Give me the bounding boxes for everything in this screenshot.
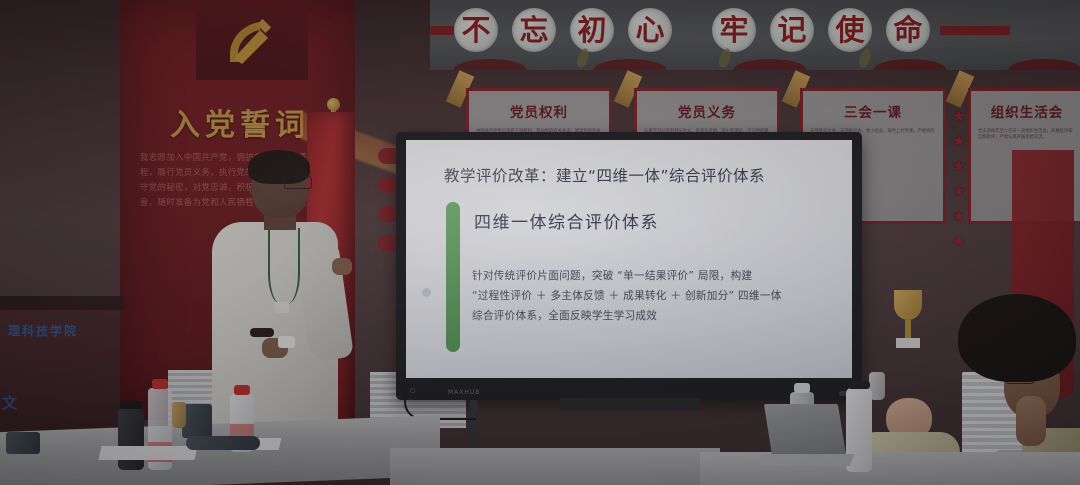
party-emblem <box>196 6 308 80</box>
audience-hair <box>958 294 1076 382</box>
slogan-char: 忘 <box>512 8 556 52</box>
banner-wave-decoration <box>430 48 1080 70</box>
pen <box>186 436 260 450</box>
smart-display[interactable]: 教学评价改革：建立“四维一体”综合评价体系 四维一体综合评价体系 针对传统评价片… <box>396 132 862 400</box>
screen-indicator-dot <box>422 288 431 297</box>
podium-sign-partial: 文 <box>2 392 17 413</box>
mug <box>182 404 212 438</box>
slide-body-text: 针对传统评价片面问题，突破 “单一结果评价” 局限，构建 “过程性评价 ＋ 多主… <box>472 266 802 326</box>
star-icon: ★ <box>952 179 965 204</box>
slogan-char: 心 <box>628 8 672 52</box>
star-icon: ★ <box>952 104 965 129</box>
table-front-right <box>700 452 1080 485</box>
slogan-char: 使 <box>828 8 872 52</box>
table-center <box>390 448 720 485</box>
slogan-char: 记 <box>770 8 814 52</box>
presenter-clicker <box>278 336 295 348</box>
thermos-flask <box>118 408 144 470</box>
slide-body-line: 针对传统评价片面问题，突破 “单一结果评价” 局限，构建 <box>472 266 802 286</box>
slide-accent-bar <box>446 202 460 352</box>
slogan-characters: 不 忘 初 心 牢 记 使 命 <box>454 8 930 52</box>
presenter-lanyard <box>268 228 300 304</box>
slide-heading: 四维一体综合评价体系 <box>474 208 659 233</box>
podium-sign: 理科技学院 <box>8 322 112 339</box>
star-icon: ★ <box>952 229 965 254</box>
podium-top <box>0 296 124 310</box>
presenter-glasses <box>284 176 312 189</box>
slide-body-line: 综合评价体系，全面反映学生学习成效 <box>472 306 802 326</box>
slogan-banner: 不 忘 初 心 牢 记 使 命 <box>430 0 1080 70</box>
presenter-hand <box>332 258 352 275</box>
trophy <box>890 290 926 352</box>
display-stand-base <box>560 398 700 410</box>
slogan-char: 牢 <box>712 8 756 52</box>
star-column: ★ ★ ★ ★ ★ ★ <box>952 104 965 254</box>
laptop-computer[interactable] <box>760 404 848 466</box>
mug <box>6 432 40 454</box>
slide-title: 教学评价改革：建立“四维一体”综合评价体系 <box>444 164 832 186</box>
presenter <box>206 150 356 440</box>
display-screen[interactable]: 教学评价改革：建立“四维一体”综合评价体系 四维一体综合评价体系 针对传统评价片… <box>406 140 852 378</box>
cup <box>172 402 186 428</box>
flag-pole-finial <box>327 98 340 111</box>
paper-sheet <box>99 446 198 460</box>
presenter-badge <box>274 302 289 313</box>
classroom-scene: 不 忘 初 心 牢 记 使 命 入党誓词 我志愿加入中国共产党，拥护党的纲领，遵… <box>0 0 1080 485</box>
slogan-char: 初 <box>570 8 614 52</box>
presenter-wristband <box>250 328 274 337</box>
hammer-and-sickle-icon <box>214 14 286 72</box>
star-icon: ★ <box>952 204 965 229</box>
star-icon: ★ <box>952 154 965 179</box>
star-icon: ★ <box>952 129 965 154</box>
slogan-char: 命 <box>886 8 930 52</box>
slide-body-line: “过程性评价 ＋ 多主体反馈 ＋ 成果转化 ＋ 创新加分” 四维一体 <box>472 286 802 306</box>
